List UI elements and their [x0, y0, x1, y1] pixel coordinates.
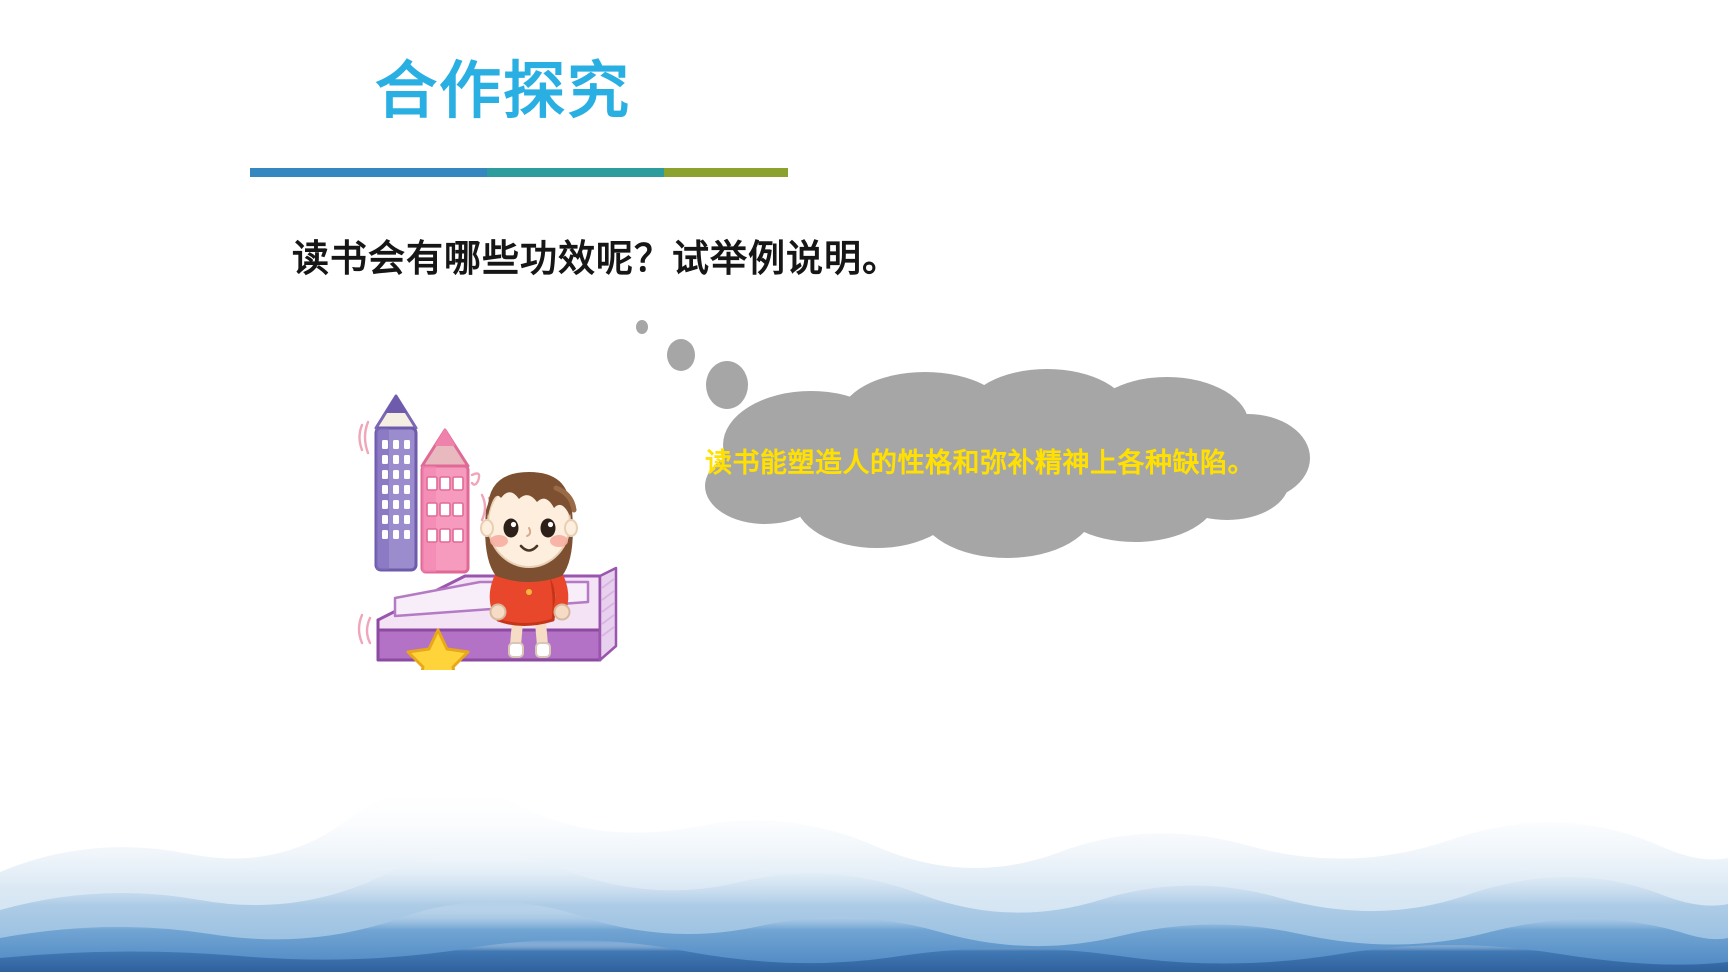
illustration-girl-on-book: [300, 330, 620, 670]
slide-canvas: 合作探究 读书会有哪些功效呢？试举例说明。: [0, 0, 1728, 972]
purple-pencil-icon: [376, 396, 416, 570]
motion-lines-book-icon: [359, 615, 370, 643]
footer-mountain-illustration: [0, 722, 1728, 972]
question-text: 读书会有哪些功效呢？试举例说明。: [292, 228, 900, 282]
divider-segment-teal: [487, 168, 665, 177]
thought-bubble-tail-icon: [636, 320, 748, 409]
motion-lines-icon: [360, 422, 369, 453]
page-title: 合作探究: [375, 58, 631, 126]
divider-segment-olive: [664, 168, 788, 177]
thought-bubble: [615, 310, 1315, 570]
thought-bubble-text: 读书能塑造人的性格和弥补精神上各种缺陷。: [705, 441, 1295, 480]
pink-pencil-building-icon: [422, 430, 468, 572]
title-divider: [250, 168, 788, 177]
divider-segment-blue: [250, 168, 487, 177]
curl-decoration-icon: [472, 473, 479, 484]
